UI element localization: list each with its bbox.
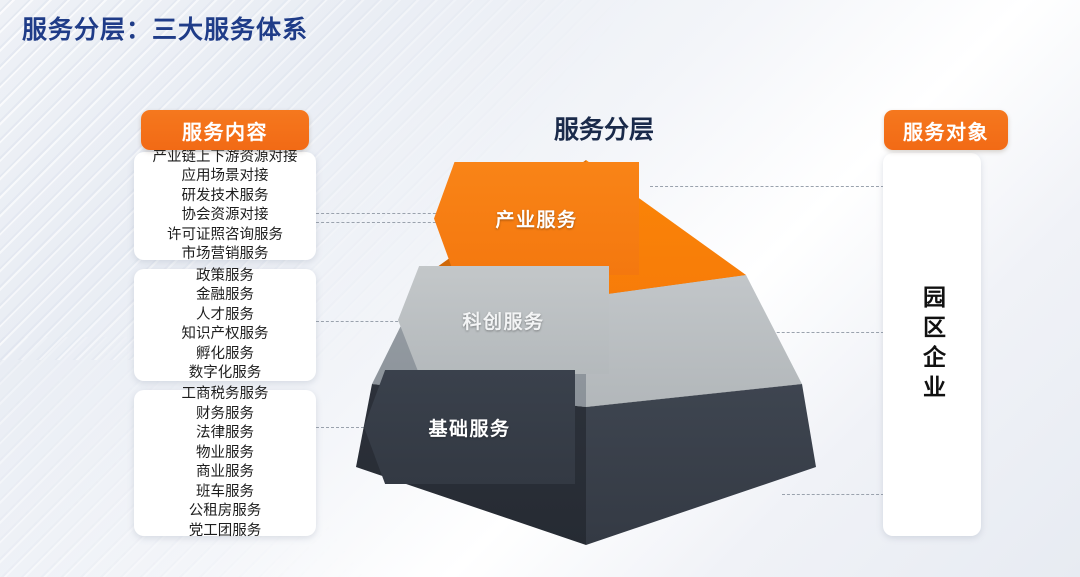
- list-item: 市场营销服务: [182, 245, 269, 265]
- service-audience-card: 园区企业: [883, 153, 981, 536]
- list-item: 财务服务: [196, 405, 254, 425]
- left-panel-header: 服务内容: [141, 110, 309, 150]
- list-item: 孵化服务: [196, 345, 254, 365]
- page-title: 服务分层：三大服务体系: [22, 10, 308, 46]
- pyramid-tab-innovation[interactable]: 科创服务: [398, 266, 609, 374]
- list-item: 知识产权服务: [182, 325, 269, 345]
- pyramid-tab-basic-label: 基础服务: [428, 414, 510, 441]
- service-content-card-basic: 工商税务服务 财务服务 法律服务 物业服务 商业服务 班车服务 公租房服务 党工…: [134, 390, 316, 536]
- service-audience-label: 园区企业: [921, 285, 944, 405]
- list-item: 金融服务: [196, 286, 254, 306]
- list-item: 物业服务: [196, 444, 254, 464]
- list-item: 班车服务: [196, 483, 254, 503]
- list-item: 工商税务服务: [182, 385, 269, 405]
- right-panel-header: 服务对象: [884, 110, 1008, 150]
- list-item: 协会资源对接: [182, 206, 269, 226]
- list-item: 产业链上下游资源对接: [153, 148, 298, 168]
- pyramid-tab-industry[interactable]: 产业服务: [434, 162, 639, 275]
- right-panel-header-label: 服务对象: [903, 116, 989, 145]
- list-item: 公租房服务: [189, 502, 262, 522]
- list-item: 数字化服务: [189, 364, 262, 384]
- pyramid-tab-basic[interactable]: 基础服务: [364, 370, 575, 484]
- list-item: 政策服务: [196, 267, 254, 287]
- list-item: 人才服务: [196, 306, 254, 326]
- service-list-industry: 产业链上下游资源对接 应用场景对接 研发技术服务 协会资源对接 许可证照咨询服务…: [134, 152, 316, 260]
- list-item: 党工团服务: [189, 522, 262, 542]
- service-content-card-industry: 产业链上下游资源对接 应用场景对接 研发技术服务 协会资源对接 许可证照咨询服务…: [134, 152, 316, 260]
- slide-canvas: 服务分层：三大服务体系 服务分层: [0, 0, 1080, 577]
- list-item: 商业服务: [196, 463, 254, 483]
- left-panel-header-label: 服务内容: [182, 116, 268, 145]
- pyramid-heading: 服务分层: [494, 110, 714, 146]
- service-list-innovation: 政策服务 金融服务 人才服务 知识产权服务 孵化服务 数字化服务: [134, 269, 316, 381]
- list-item: 法律服务: [196, 424, 254, 444]
- service-content-card-innovation: 政策服务 金融服务 人才服务 知识产权服务 孵化服务 数字化服务: [134, 269, 316, 381]
- list-item: 应用场景对接: [182, 167, 269, 187]
- list-item: 许可证照咨询服务: [167, 226, 283, 246]
- pyramid-tab-industry-label: 产业服务: [495, 205, 577, 232]
- list-item: 研发技术服务: [182, 187, 269, 207]
- pyramid-tab-innovation-label: 科创服务: [462, 307, 544, 334]
- service-list-basic: 工商税务服务 财务服务 法律服务 物业服务 商业服务 班车服务 公租房服务 党工…: [134, 390, 316, 536]
